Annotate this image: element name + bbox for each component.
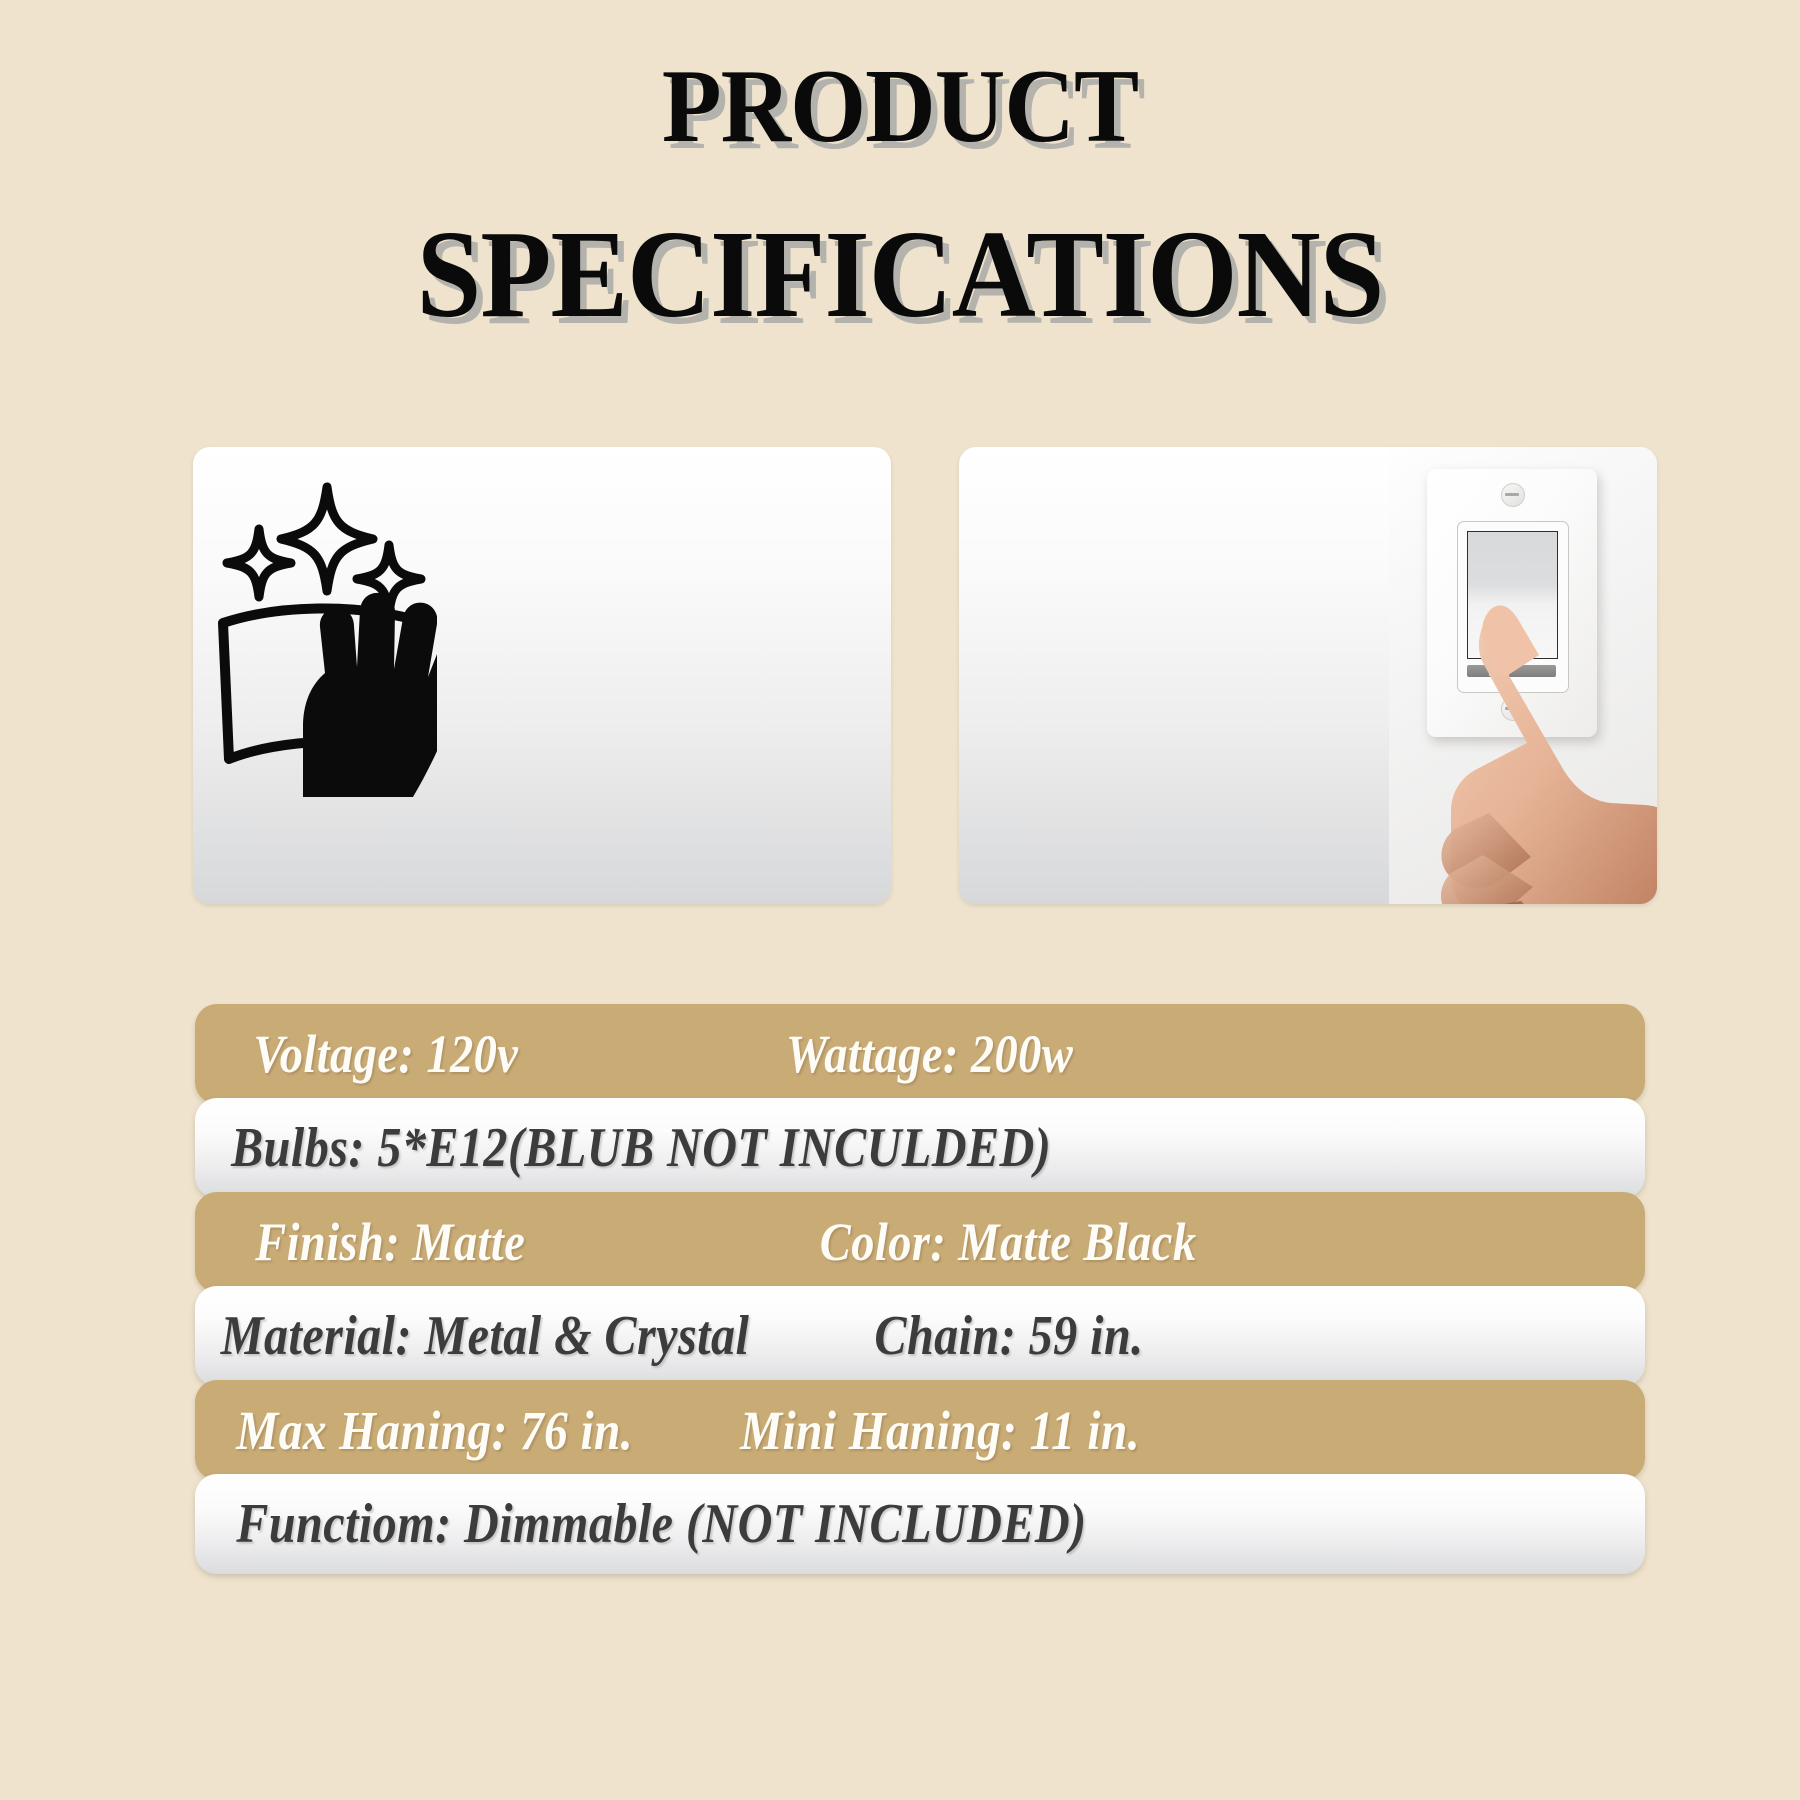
spec-finish: Finish: Matte <box>195 1211 525 1273</box>
dimming-information-card: DIMMING INFORMATION This fixture is dimm… <box>959 447 1657 904</box>
spec-max-hanging: Max Haning: 76 in. <box>195 1399 633 1462</box>
spec-row-hanging: Max Haning: 76 in. Mini Haning: 11 in. <box>195 1380 1645 1480</box>
spec-function: Functiom: Dimmable (NOT INCLUDED) <box>195 1492 1087 1556</box>
screw-icon-top <box>1501 483 1525 507</box>
spec-row-finish-color: Finish: Matte Color: Matte Black <box>195 1192 1645 1292</box>
page-title-line-2: Specifications <box>63 169 1737 343</box>
spec-row-material-chain: Material: Metal & Crystal Chain: 59 in. <box>195 1286 1645 1386</box>
spec-color: Color: Matte Black <box>579 1211 1196 1273</box>
hand-wiping-cloth-sparkle-icon <box>207 477 437 797</box>
spec-min-hanging: Mini Haning: 11 in. <box>704 1399 1140 1462</box>
spec-bulbs: Bulbs: 5*E12(BLUB NOT INCULDED) <box>195 1116 1051 1180</box>
spec-row-voltage-wattage: Voltage: 120v Wattage: 200w <box>195 1004 1645 1104</box>
page-title: Product Specifications <box>0 18 1800 343</box>
easy-clean-card: EASY CLEAN Wipe clean with a dry cloth O… <box>193 447 891 904</box>
spec-voltage: Voltage: 120v <box>195 1023 518 1085</box>
pointing-hand-icon <box>1435 597 1657 904</box>
wall-dimmer-switch-photo <box>1389 447 1657 904</box>
spec-wattage: Wattage: 200w <box>571 1023 1073 1085</box>
spec-material: Material: Metal & Crystal <box>195 1304 749 1368</box>
page-title-line-1: Product <box>63 18 1737 165</box>
spec-row-bulbs: Bulbs: 5*E12(BLUB NOT INCULDED) <box>195 1098 1645 1198</box>
spec-row-function: Functiom: Dimmable (NOT INCLUDED) <box>195 1474 1645 1574</box>
spec-chain: Chain: 59 in. <box>840 1304 1144 1368</box>
